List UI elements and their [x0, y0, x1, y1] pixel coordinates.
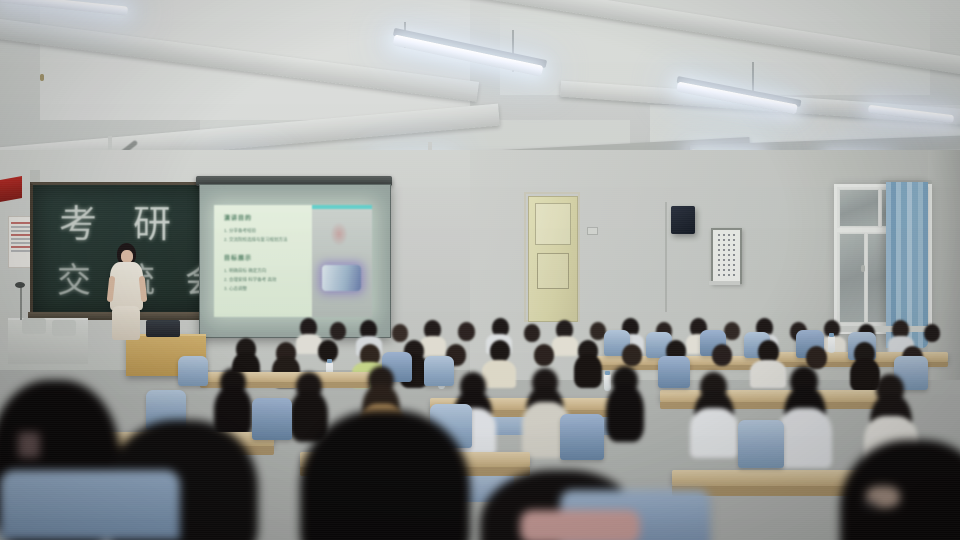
slide-bullet: 2. 合理安排 科学备考 高效	[224, 277, 306, 283]
slide-heading-1: 演讲目的	[224, 213, 306, 222]
slide-bullet: 1. 明确目标 确定方向	[224, 268, 306, 274]
student-desk	[660, 390, 890, 402]
framed-calligraphy	[711, 228, 742, 284]
student-head	[622, 344, 642, 366]
red-banner	[0, 176, 22, 202]
eyeglasses	[862, 500, 878, 509]
door-panel	[537, 253, 569, 289]
window-latch[interactable]	[861, 265, 865, 272]
window-pane	[839, 189, 879, 227]
microphone	[15, 282, 25, 288]
frame-shelf	[709, 281, 740, 285]
door-window	[535, 203, 571, 245]
wall-speaker	[671, 206, 695, 234]
slide-image-glow	[330, 222, 348, 246]
window-pane	[839, 233, 865, 323]
student-chair	[424, 356, 454, 386]
student-hair	[574, 354, 602, 388]
student-torso	[552, 336, 578, 356]
slide-photo	[322, 265, 362, 291]
slide-bullet: 1. 分享备考经验	[224, 228, 306, 234]
student-head	[392, 324, 408, 342]
student-head	[724, 322, 740, 340]
slide-heading-2: 目标展示	[224, 253, 306, 262]
classroom-photo: 考研 交流会 演讲目的 1. 分享备考经验 2. 交流院校选择与复习规划方法 目…	[0, 0, 960, 540]
slide-text-column: 演讲目的 1. 分享备考经验 2. 交流院校选择与复习规划方法 目标展示 1. …	[214, 205, 312, 317]
slide-image-column	[312, 205, 372, 317]
wall-corner	[928, 150, 960, 380]
student-head	[806, 346, 827, 369]
presenter-top	[110, 262, 143, 310]
slide-accent-bar	[312, 205, 372, 209]
student-head	[458, 322, 475, 341]
student-torso	[750, 360, 786, 388]
foreground-head	[300, 410, 470, 540]
student-head	[490, 340, 510, 362]
presentation-slide: 演讲目的 1. 分享备考经验 2. 交流院校选择与复习规划方法 目标展示 1. …	[214, 205, 372, 317]
projection-screen: 演讲目的 1. 分享备考经验 2. 交流院校选择与复习规划方法 目标展示 1. …	[199, 184, 391, 338]
microphone-stand	[20, 286, 22, 320]
foreground-garment	[520, 510, 640, 540]
wall-conduit	[665, 202, 667, 312]
slide-bullet: 2. 交流院校选择与复习规划方法	[224, 237, 306, 243]
student-head	[524, 324, 540, 342]
foreground-chair	[0, 470, 180, 540]
window-sill	[830, 326, 930, 332]
student-chair	[658, 356, 690, 388]
front-side-table	[8, 318, 88, 364]
hair-accessory	[18, 432, 40, 458]
light-switch[interactable]	[587, 227, 598, 235]
water-bottle	[604, 374, 611, 391]
student-head	[330, 322, 346, 340]
student-head	[534, 344, 554, 366]
light-stem	[752, 62, 754, 92]
student-chair	[252, 398, 292, 440]
student-chair	[178, 356, 208, 386]
classroom-door[interactable]	[528, 196, 578, 322]
student-head	[924, 324, 940, 342]
slide-bullet: 3. 心态调整	[224, 286, 306, 292]
presenter-skirt	[112, 306, 140, 340]
student-chair	[560, 414, 604, 460]
presenter-laptop[interactable]	[146, 320, 180, 337]
blackboard-top-text: 考研	[59, 193, 207, 248]
front-stool	[52, 320, 76, 336]
student-torso	[778, 408, 832, 468]
water-bottle	[828, 336, 835, 353]
student-chair	[738, 420, 784, 468]
student-torso	[690, 408, 738, 458]
student-hair	[606, 384, 644, 442]
student-head	[712, 344, 732, 366]
front-stool	[22, 318, 46, 334]
foreground-head	[840, 440, 960, 540]
door-handle[interactable]	[40, 74, 44, 81]
student-torso	[482, 360, 516, 388]
